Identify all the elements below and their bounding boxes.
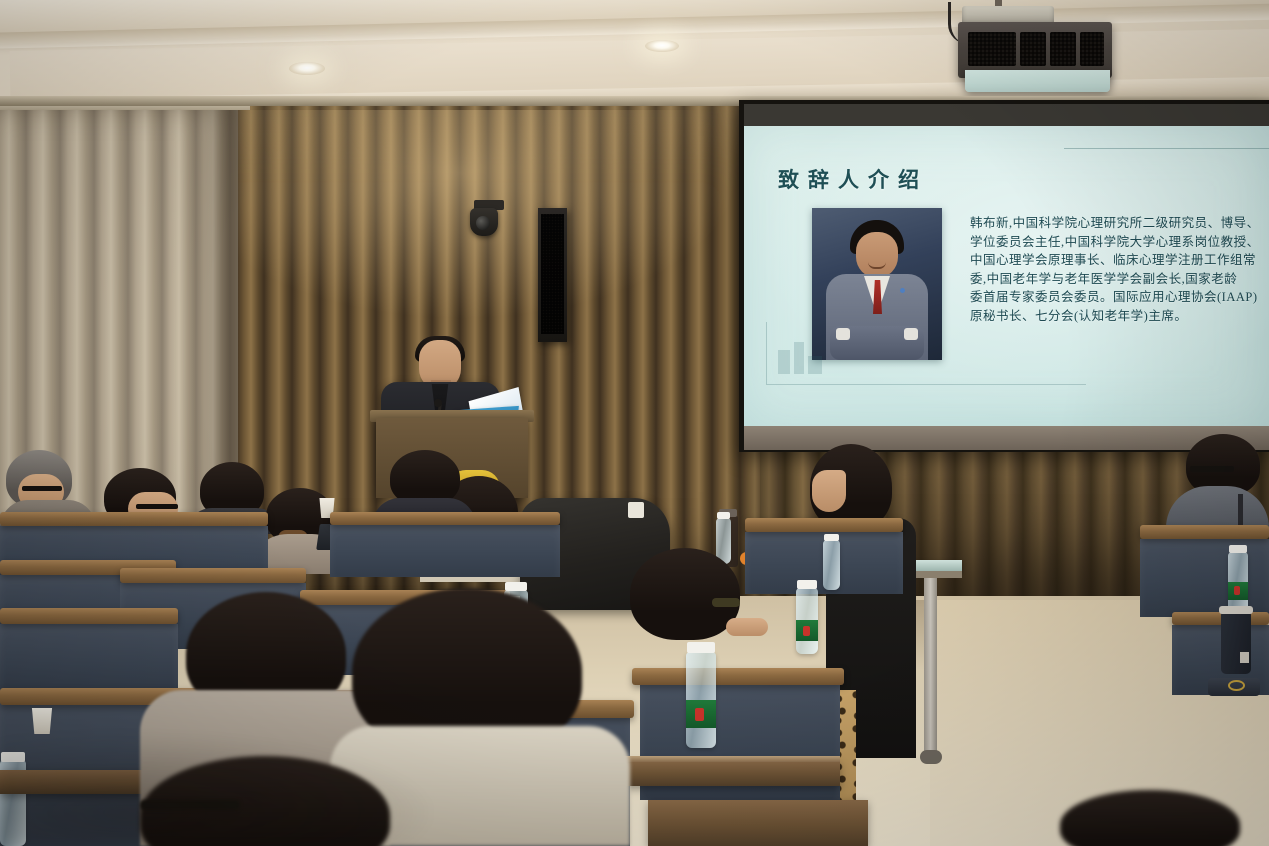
projector-lens-panel	[965, 70, 1110, 92]
foreground-blur-overlay	[0, 735, 430, 846]
watermark-svg	[774, 338, 834, 376]
seat-frame-rail	[745, 518, 903, 532]
seat-frame-rail	[120, 568, 306, 583]
tumbler-badge	[1240, 652, 1249, 663]
bottle-cap	[1229, 545, 1247, 553]
conference-hall-photo: 致辞人介绍 韩布新,中国科学院心理研究所二级研究员、博导、 学位委员会主任,中国…	[0, 0, 1269, 846]
slide-corner-rule-horizontal	[766, 384, 1086, 385]
rolling-table-leg	[924, 578, 937, 758]
projector-vent	[1050, 32, 1076, 66]
eyeglasses-icon	[1190, 466, 1234, 472]
slide-title: 致辞人介绍	[778, 164, 1018, 194]
bottle-label-motif	[803, 626, 810, 636]
bottle-cap	[717, 512, 730, 519]
seat-frame-rail	[1140, 525, 1269, 539]
tumbler-lid	[1219, 606, 1253, 614]
seat-frame-rail	[0, 512, 268, 526]
camera-lens-icon	[476, 216, 490, 230]
seat-frame-rail	[0, 608, 178, 624]
projected-slide: 致辞人介绍 韩布新,中国科学院心理研究所二级研究员、博导、 学位委员会主任,中国…	[744, 126, 1269, 426]
microphone-icon	[434, 399, 442, 407]
attendee-hands	[726, 618, 768, 636]
attendee-head	[630, 548, 740, 640]
slide-body-line: 委,中国老年学与老年医学学会副会长,国家老龄	[970, 270, 1269, 289]
slide-body-line: 原秘书长、七分会(认知老年学)主席。	[970, 307, 1269, 326]
portrait-lapel-pin	[900, 288, 905, 293]
attendee-face	[812, 470, 846, 512]
eyeglasses-icon	[22, 486, 62, 491]
portrait-shirt-cuff	[904, 328, 918, 340]
bottle-label-motif	[1234, 586, 1240, 595]
slide-watermark-logo	[774, 338, 834, 376]
ceiling-downlight	[289, 62, 325, 75]
bottle-label-motif	[695, 708, 704, 721]
slide-body-line: 中国心理学会原理事长、临床心理学注册工作组常	[970, 251, 1269, 270]
phone-ring-holder-icon	[1228, 680, 1245, 691]
projector-vent	[1080, 32, 1104, 66]
desk-surface	[648, 800, 868, 846]
bottle-cap	[505, 582, 527, 591]
slide-body-line: 韩布新,中国科学院心理研究所二级研究员、博导、	[970, 214, 1269, 233]
projector-vent	[968, 32, 1016, 66]
slide-letterbox-band	[744, 104, 1269, 128]
bottle-cap	[824, 534, 839, 541]
screen-bottom-casing	[744, 426, 1269, 450]
ceiling-downlight	[645, 40, 679, 52]
sunglasses-icon	[712, 598, 740, 607]
slide-body-line: 学位委员会主任,中国科学院大学心理系岗位教授、	[970, 233, 1269, 252]
slide-top-rule	[1064, 148, 1269, 149]
seat-frame-rail	[632, 668, 844, 685]
seat-back	[330, 525, 560, 577]
portrait-shirt-cuff	[836, 328, 850, 340]
seat-frame-rail	[330, 512, 560, 525]
portrait-face	[856, 232, 898, 278]
slide-corner-rule-vertical	[766, 322, 767, 384]
slide-body-text: 韩布新,中国科学院心理研究所二级研究员、博导、 学位委员会主任,中国科学院大学心…	[970, 214, 1269, 325]
paper-cup	[628, 502, 644, 518]
lanyard	[1238, 494, 1243, 528]
rolling-table-caster	[920, 750, 942, 764]
projector-vent	[1020, 32, 1046, 66]
water-bottle	[823, 540, 840, 590]
slide-body-line: 委首届专家委员会委员。国际应用心理协会(IAAP)	[970, 288, 1269, 307]
seat-back	[0, 624, 178, 696]
speaker-grille	[541, 214, 564, 334]
eyeglasses-icon	[136, 504, 178, 509]
wall-light-wash	[180, 110, 740, 320]
travel-tumbler	[1221, 612, 1251, 674]
bottle-cap	[687, 642, 715, 653]
bottle-cap	[797, 580, 817, 589]
